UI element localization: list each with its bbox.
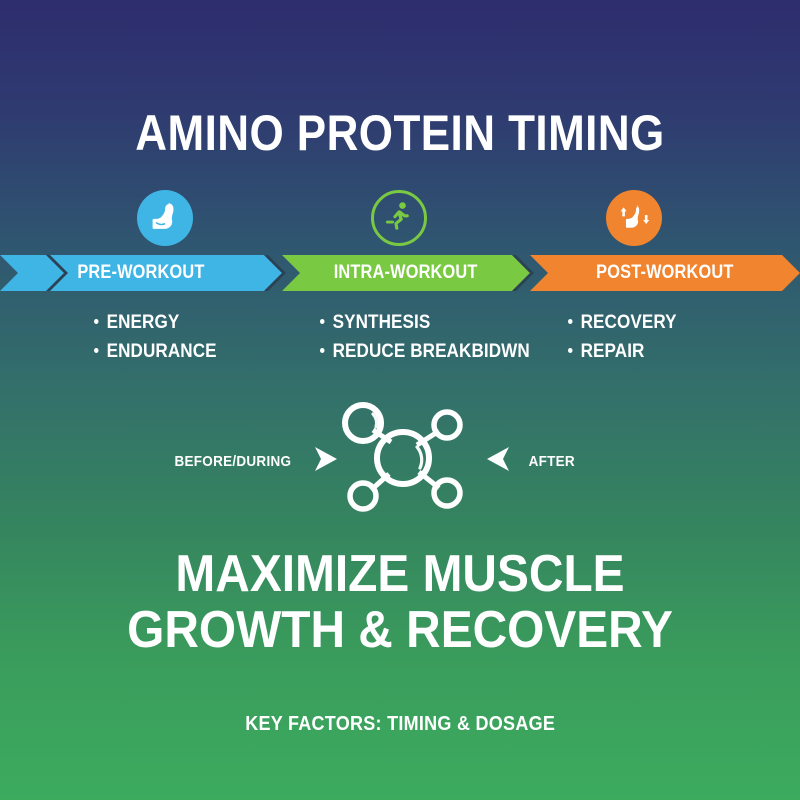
bullet-dot-icon xyxy=(568,319,573,324)
list-item: REPAIR xyxy=(568,337,677,366)
benefit-list-intra-workout: SYNTHESIS REDUCE BREAKBIDWN xyxy=(320,308,553,366)
recovery-arm-arrows-icon xyxy=(616,199,652,238)
bullet-dot-icon xyxy=(94,319,99,324)
molecule-icon xyxy=(329,398,471,523)
flexed-bicep-icon xyxy=(148,199,182,238)
stage-icon-row xyxy=(0,190,800,260)
benefit-list-pre-workout: ENERGY ENDURANCE xyxy=(94,308,230,366)
list-item: SYNTHESIS xyxy=(320,308,530,337)
bullet-dot-icon xyxy=(320,348,325,353)
stage-icon-intra-workout xyxy=(371,190,427,246)
headline: MAXIMIZE MUSCLE GROWTH & RECOVERY xyxy=(0,546,800,658)
bullet-dot-icon xyxy=(320,319,325,324)
page-title: AMINO PROTEIN TIMING xyxy=(48,104,752,162)
list-item: ENDURANCE xyxy=(94,337,217,366)
after-group: AFTER xyxy=(482,442,578,481)
banner-segment-intra-workout[interactable]: INTRA-WORKOUT xyxy=(282,255,530,291)
after-label: AFTER xyxy=(529,453,575,470)
before-during-label: BEFORE/DURING xyxy=(174,453,291,470)
stage-icon-pre-workout xyxy=(137,190,193,246)
list-item: REDUCE BREAKBIDWN xyxy=(320,337,530,366)
bullet-dot-icon xyxy=(568,348,573,353)
bullet-dot-icon xyxy=(94,348,99,353)
running-person-icon xyxy=(383,200,415,237)
footer-note: KEY FACTORS: TIMING & DOSAGE xyxy=(0,713,800,736)
banner-label-pre-workout: PRE-WORKOUT xyxy=(77,262,204,284)
benefit-list-post-workout: RECOVERY REPAIR xyxy=(568,308,689,366)
banner-segment-pre-workout[interactable]: PRE-WORKOUT xyxy=(0,255,282,291)
stage-banner: PRE-WORKOUT INTRA-WORKOUT POST-WORKOUT xyxy=(0,255,800,291)
headline-line-2: GROWTH & RECOVERY xyxy=(32,602,768,658)
before-during-group: BEFORE/DURING xyxy=(168,442,342,481)
banner-label-intra-workout: INTRA-WORKOUT xyxy=(334,262,478,284)
list-item: ENERGY xyxy=(94,308,217,337)
stage-benefits: ENERGY ENDURANCE SYNTHESIS REDUCE BREAKB… xyxy=(0,308,800,368)
molecule-section: BEFORE/DURING xyxy=(0,398,800,523)
list-item: RECOVERY xyxy=(568,308,677,337)
stage-icon-post-workout xyxy=(606,190,662,246)
chevron-left-icon xyxy=(482,442,516,481)
banner-label-post-workout: POST-WORKOUT xyxy=(596,262,733,284)
banner-segment-post-workout[interactable]: POST-WORKOUT xyxy=(530,255,800,291)
headline-line-1: MAXIMIZE MUSCLE xyxy=(32,546,768,602)
